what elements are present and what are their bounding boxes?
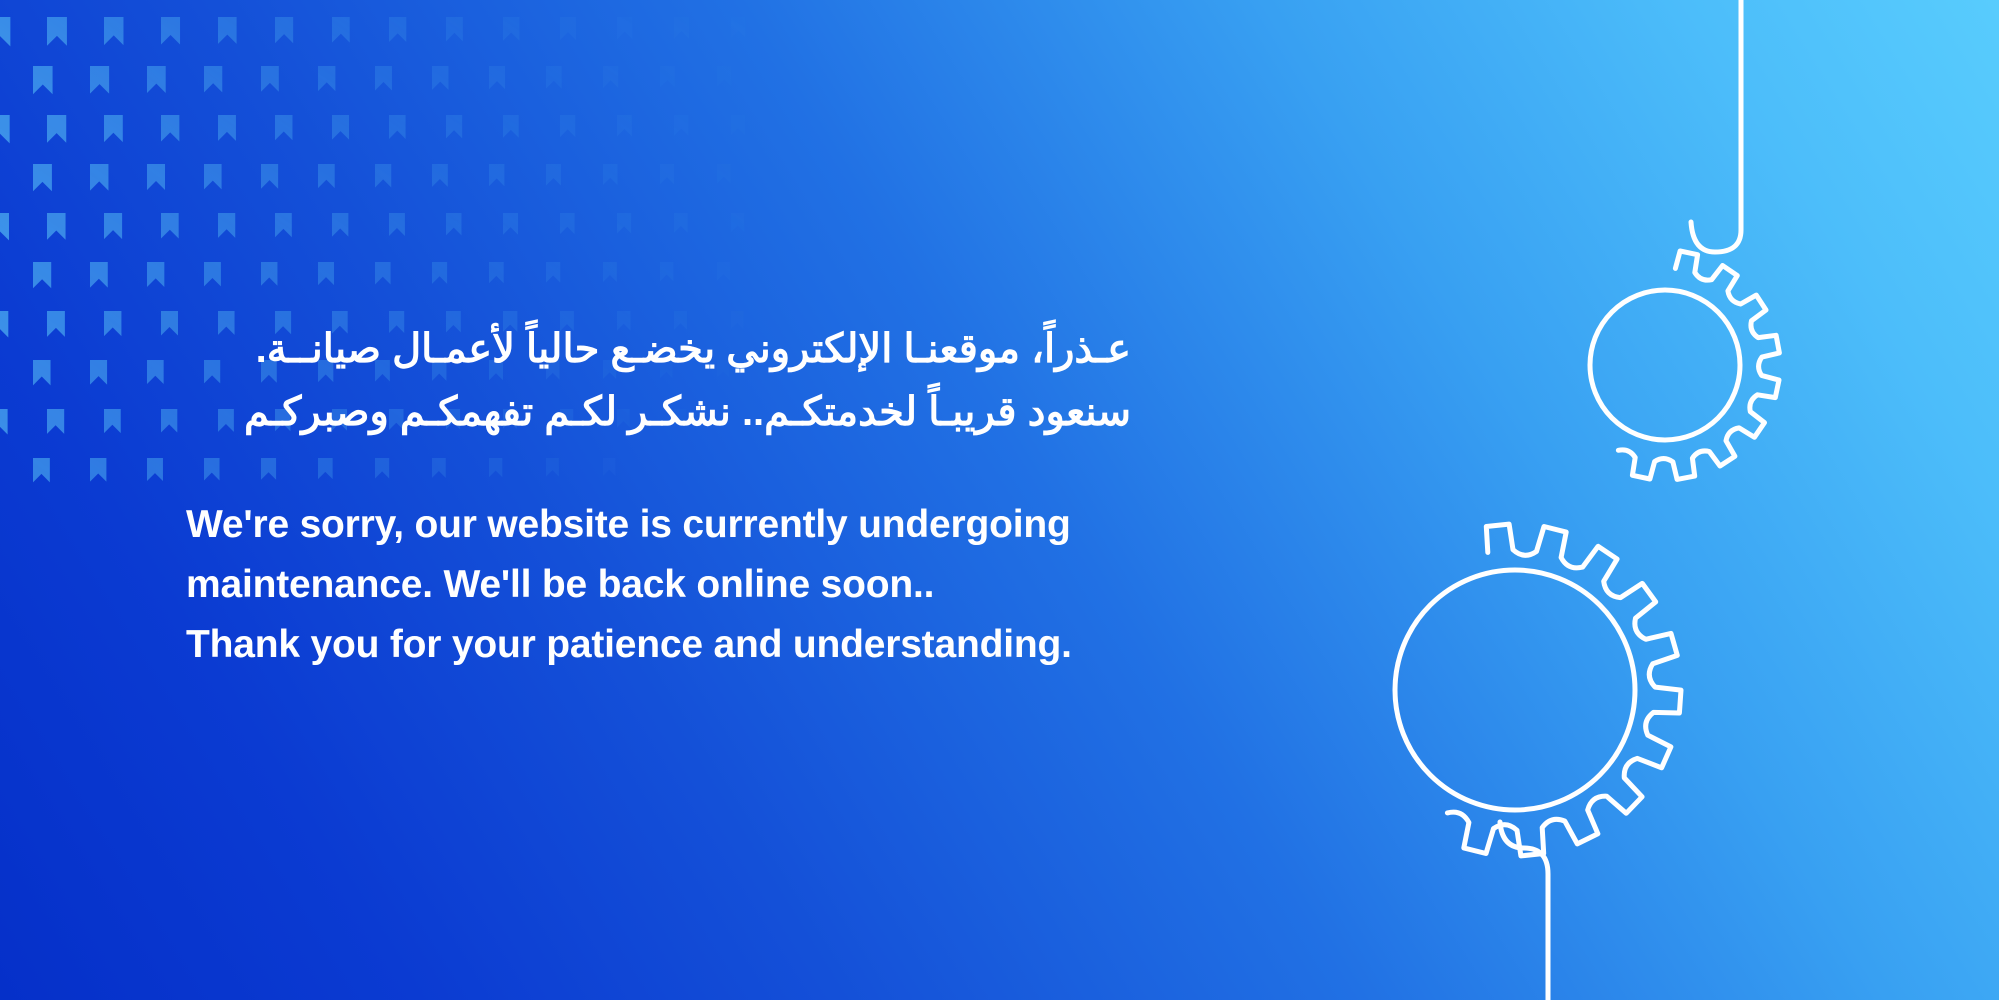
arabic-line-1: عـذراً، موقعنـا الإلكتروني يخضـع حالياً … <box>186 318 1131 381</box>
top-connector-line <box>1691 0 1741 252</box>
small-gear-outline <box>1618 251 1779 479</box>
large-gear-inner-circle <box>1395 570 1635 810</box>
english-message: We're sorry, our website is currently un… <box>186 495 1131 675</box>
maintenance-message: عـذراً، موقعنـا الإلكتروني يخضـع حالياً … <box>186 318 1131 675</box>
english-line-2: maintenance. We'll be back online soon.. <box>186 555 1131 615</box>
arabic-message: عـذراً، موقعنـا الإلكتروني يخضـع حالياً … <box>186 318 1131 444</box>
bottom-connector-line <box>1500 822 1548 1000</box>
maintenance-page: عـذراً، موقعنـا الإلكتروني يخضـع حالياً … <box>0 0 1999 1000</box>
english-line-3: Thank you for your patience and understa… <box>186 615 1131 675</box>
large-gear-outline <box>1447 524 1681 856</box>
small-gear-inner-circle <box>1590 290 1740 440</box>
arabic-line-2: سنعود قريبـاً لخدمتكـم.. نشكـر لكـم تفهم… <box>186 381 1131 444</box>
english-line-1: We're sorry, our website is currently un… <box>186 495 1131 555</box>
